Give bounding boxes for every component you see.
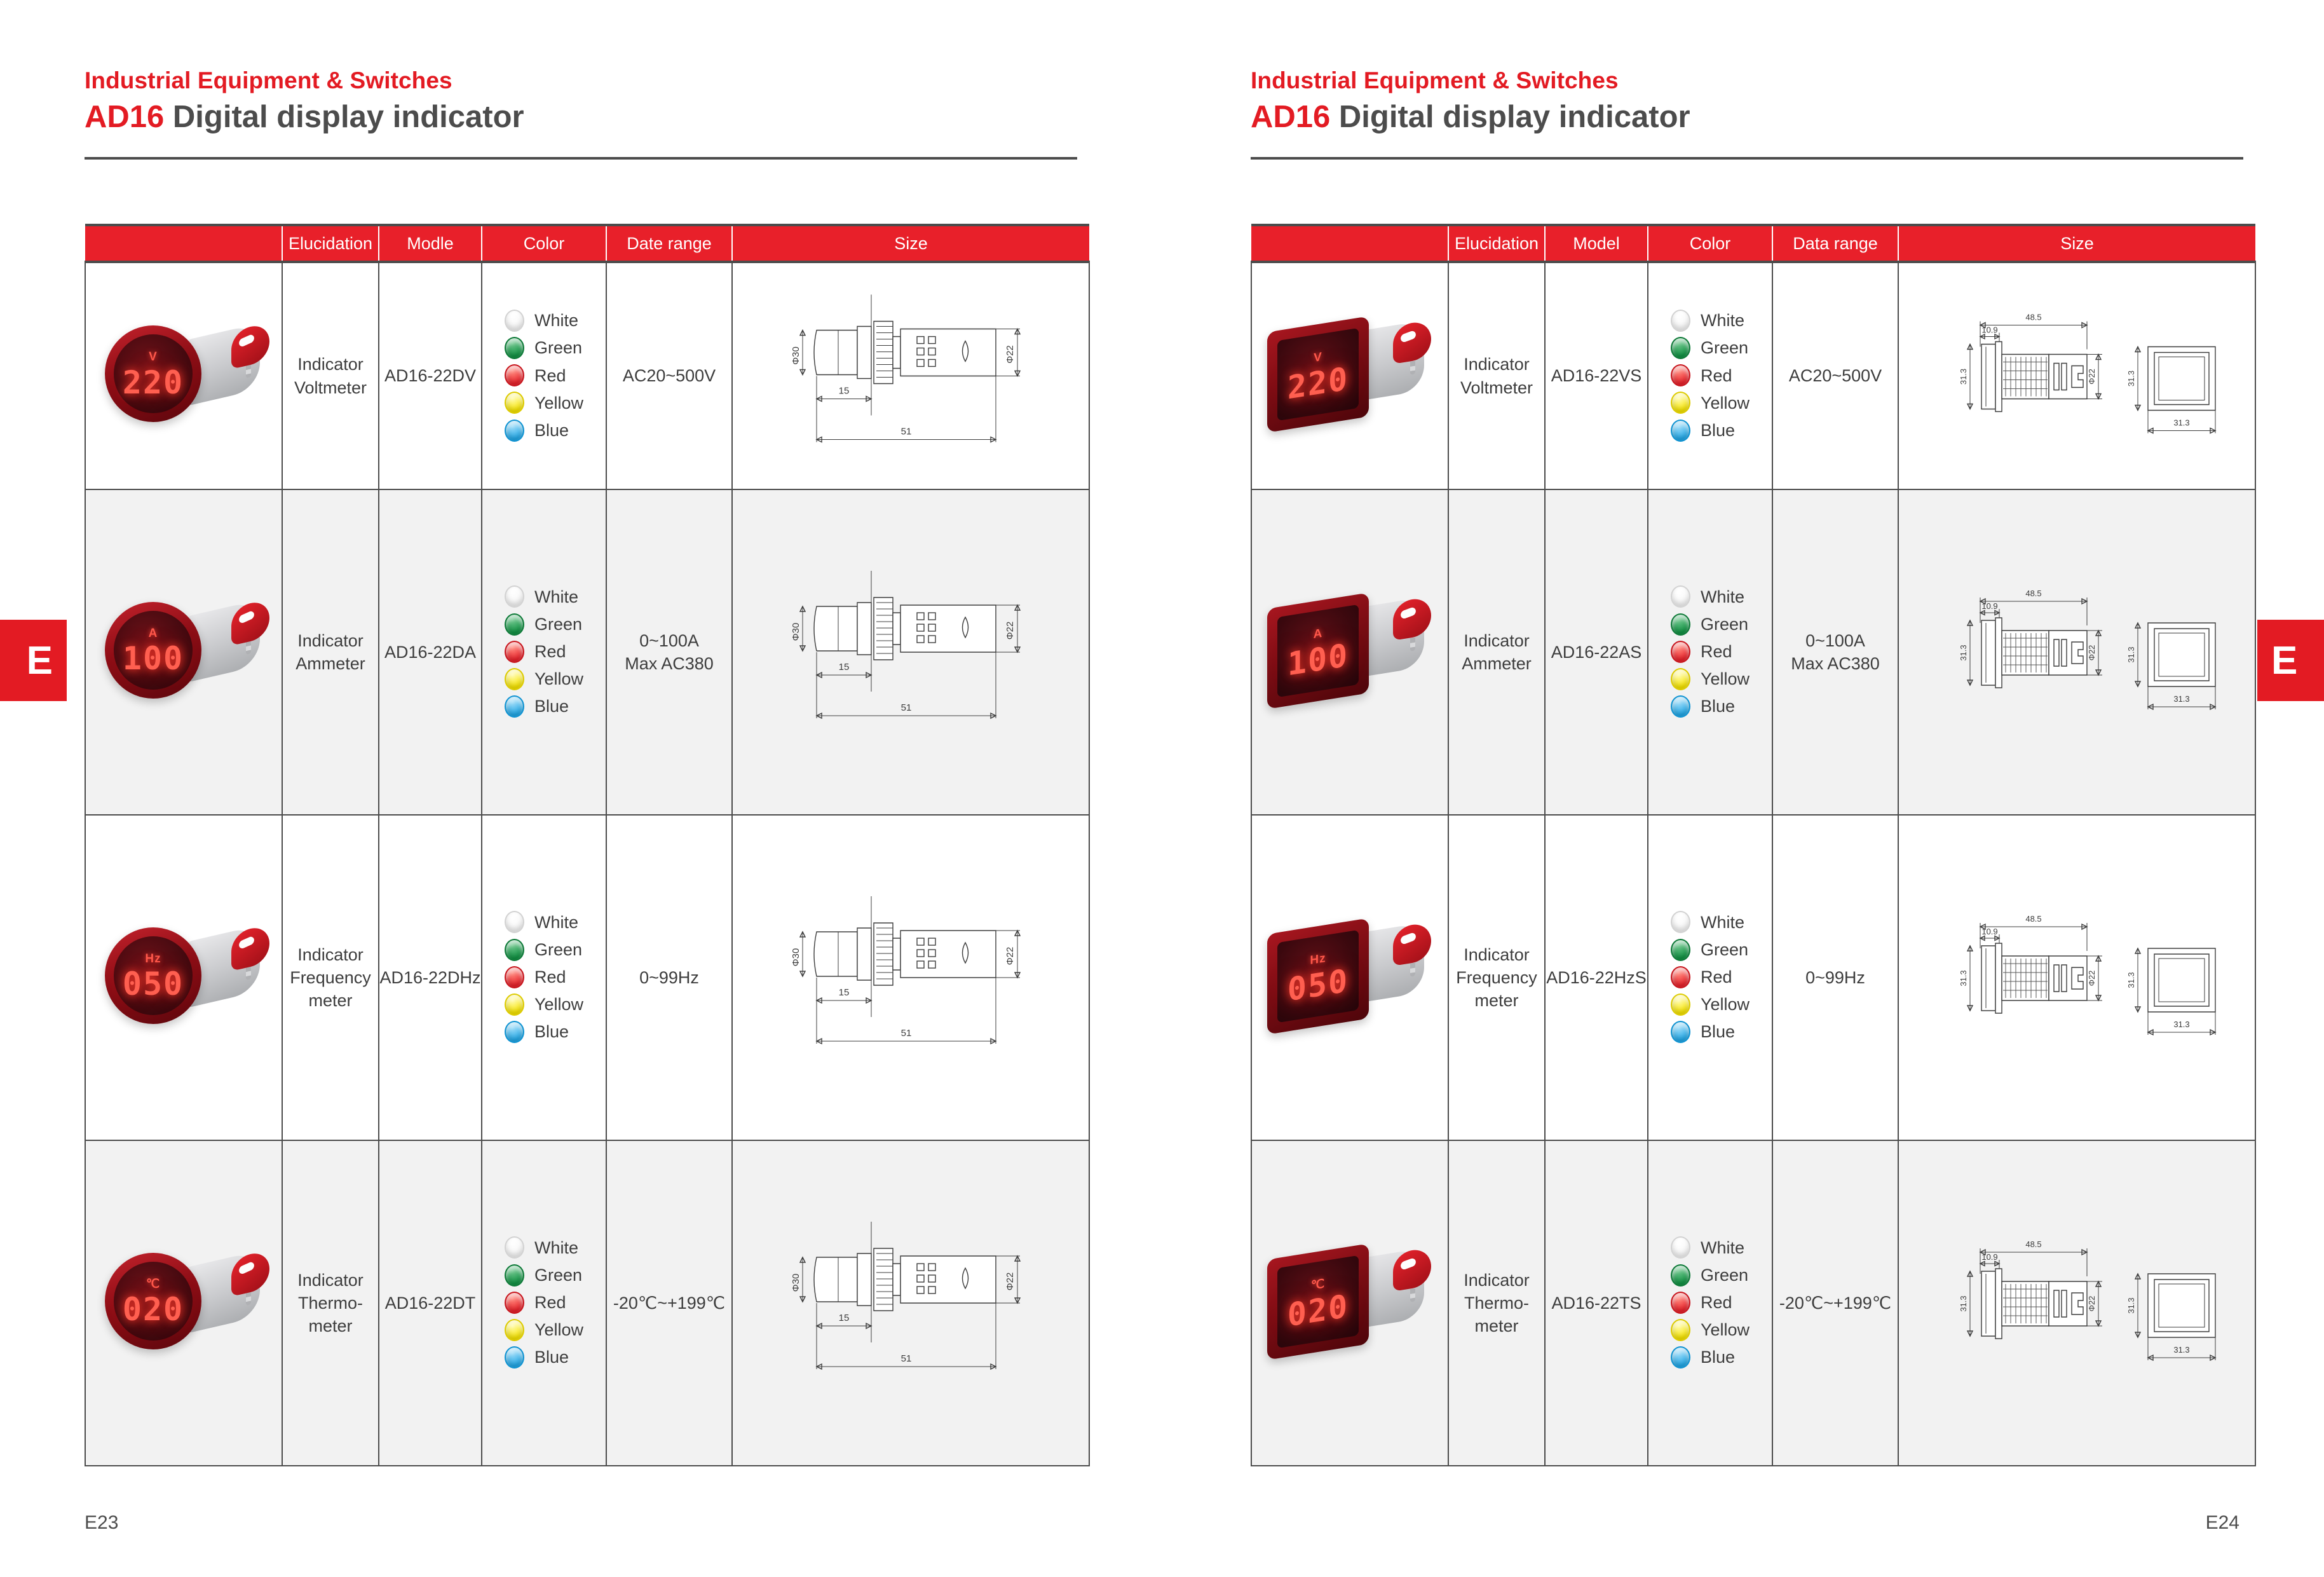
dim-side-height: 31.3 [1959, 645, 1968, 660]
dimension-drawing: 48.5 10.9 31.3 [1899, 1141, 2255, 1465]
catalog-page-right: E Industrial Equipment & Switches AD16 D… [1162, 0, 2324, 1577]
color-swatch-blue-icon [505, 1021, 524, 1043]
dim-body-diameter: Φ22 [2087, 645, 2096, 661]
color-option: White [1671, 585, 1750, 608]
page-title: AD16 Digital display indicator [1251, 101, 2267, 133]
color-label: Yellow [534, 993, 583, 1016]
cell-size-drawing: 48.5 10.9 31.3 [1898, 1140, 2255, 1466]
color-label: Red [1701, 1291, 1732, 1314]
dim-front-diameter: Φ30 [791, 346, 801, 365]
dimension-drawing: Φ30 15 51 Φ22 [733, 1141, 1089, 1465]
cell-model: AD16-22TS [1545, 1140, 1648, 1466]
cell-color: White Green Red Yellow Blue [482, 1140, 606, 1466]
dim-front-depth: 10.9 [1981, 1252, 1997, 1262]
col-header-model: Model [1545, 225, 1648, 262]
color-option: Yellow [505, 1318, 583, 1341]
cell-data-range: 0~100AMax AC380 [606, 489, 732, 815]
dim-total-length: 48.5 [2025, 914, 2041, 924]
dim-front-depth: 10.9 [1981, 325, 1997, 335]
color-label: Red [534, 966, 566, 988]
page-header-right: Industrial Equipment & Switches AD16 Dig… [1251, 69, 2267, 133]
color-option-list: White Green Red Yellow Blue [1671, 906, 1750, 1048]
dim-total-length: 51 [901, 1028, 912, 1039]
color-swatch-white-icon [1671, 1236, 1690, 1259]
color-label: White [534, 585, 578, 608]
color-label: Blue [1701, 419, 1735, 442]
dim-front-depth: 15 [839, 662, 850, 672]
color-option: Yellow [505, 993, 583, 1016]
color-option: Green [1671, 1264, 1750, 1287]
dim-front-depth: 10.9 [1981, 601, 1997, 611]
cell-product-image: Hz 050 [1251, 815, 1448, 1140]
color-option: Blue [505, 1346, 583, 1369]
cell-elucidation: IndicatorThermo-meter [1448, 1140, 1545, 1466]
dim-front-depth: 15 [839, 386, 850, 397]
color-label: White [1701, 585, 1744, 608]
color-option: White [505, 911, 583, 934]
dim-front-depth: 15 [839, 987, 850, 998]
color-swatch-white-icon [505, 585, 524, 608]
cell-model: AD16-22DT [379, 1140, 482, 1466]
color-swatch-blue-icon [505, 695, 524, 718]
led-display-face: A 100 [1277, 604, 1359, 697]
cell-model: AD16-22HzS [1545, 815, 1648, 1140]
color-option: Yellow [1671, 993, 1750, 1016]
dim-side-height: 31.3 [1959, 1295, 1968, 1311]
color-option: Green [505, 1264, 583, 1287]
indicator-bezel: Hz 050 [105, 927, 201, 1024]
led-display-face: A 100 [114, 611, 193, 690]
color-option: Green [505, 938, 583, 961]
cell-size-drawing: Φ30 15 51 Φ22 [732, 815, 1089, 1140]
color-swatch-yellow-icon [505, 993, 524, 1016]
color-swatch-green-icon [1671, 939, 1690, 961]
dim-front-height: 31.3 [2126, 1297, 2136, 1313]
color-option: Yellow [1671, 667, 1750, 690]
color-label: Red [1701, 364, 1732, 387]
color-swatch-white-icon [505, 1236, 524, 1259]
table-header-row: Elucidation Model Color Data range Size [1251, 225, 2255, 262]
color-option-list: White Green Red Yellow Blue [1671, 1232, 1750, 1374]
dim-front-height: 31.3 [2126, 371, 2136, 386]
page-title-code: AD16 [85, 100, 164, 134]
color-option: Blue [1671, 1020, 1750, 1043]
section-tab-e-left: E [0, 620, 67, 701]
color-option-list: White Green Red Yellow Blue [505, 906, 583, 1048]
cell-product-image: V 220 [1251, 262, 1448, 489]
color-option: Red [505, 966, 583, 988]
color-label: Red [534, 364, 566, 387]
cell-model: AD16-22VS [1545, 262, 1648, 489]
table-header-row: Elucidation Modle Color Date range Size [85, 225, 1089, 262]
color-label: Green [1701, 613, 1748, 636]
color-label: Blue [534, 419, 569, 442]
color-option: Red [505, 640, 583, 663]
color-label: Green [534, 336, 582, 359]
led-display-face: Hz 050 [114, 936, 193, 1015]
color-swatch-green-icon [505, 939, 524, 961]
col-header-range: Data range [1772, 225, 1898, 262]
page-number: E24 [2206, 1512, 2239, 1534]
color-option-list: White Green Red Yellow Blue [505, 581, 583, 723]
dim-front-width: 31.3 [2173, 1345, 2189, 1355]
cell-product-image: A 100 [1251, 489, 1448, 815]
col-header-elucidation: Elucidation [282, 225, 379, 262]
color-option: Blue [505, 1020, 583, 1043]
color-option: White [1671, 1236, 1750, 1259]
color-swatch-green-icon [1671, 613, 1690, 636]
col-header-size: Size [732, 225, 1089, 262]
cell-product-image: A 100 [85, 489, 282, 815]
col-header-elucidation: Elucidation [1448, 225, 1545, 262]
indicator-bezel: Hz 050 [1267, 918, 1369, 1034]
dim-body-diameter: Φ22 [2087, 971, 2096, 986]
color-swatch-yellow-icon [1671, 668, 1690, 690]
color-swatch-yellow-icon [505, 392, 524, 414]
color-option: Red [505, 364, 583, 387]
color-swatch-white-icon [1671, 310, 1690, 332]
cell-color: White Green Red Yellow Blue [1648, 489, 1772, 815]
cell-color: White Green Red Yellow Blue [1648, 1140, 1772, 1466]
cell-elucidation: IndicatorFrequencymeter [282, 815, 379, 1140]
led-display-face: ℃ 020 [1277, 1255, 1359, 1348]
color-label: White [1701, 1236, 1744, 1259]
led-display-face: Hz 050 [1277, 929, 1359, 1022]
cell-data-range: -20℃~+199℃ [606, 1140, 732, 1466]
dim-side-height: 31.3 [1959, 369, 1968, 385]
color-option-list: White Green Red Yellow Blue [1671, 304, 1750, 446]
dim-front-diameter: Φ30 [791, 948, 801, 967]
cell-model: AD16-22AS [1545, 489, 1648, 815]
product-photo: A 100 [1254, 584, 1445, 721]
color-option: Blue [1671, 695, 1750, 718]
cell-product-image: ℃ 020 [1251, 1140, 1448, 1466]
display-digits: 020 [123, 1294, 184, 1325]
color-swatch-yellow-icon [1671, 993, 1690, 1016]
cell-data-range: AC20~500V [606, 262, 732, 489]
color-swatch-blue-icon [505, 1346, 524, 1369]
dim-body-diameter: Φ22 [1005, 947, 1016, 966]
color-swatch-red-icon [505, 1292, 524, 1314]
dimension-drawing: 48.5 10.9 31.3 [1899, 263, 2255, 489]
dimension-drawing: Φ30 15 51 Φ22 [733, 490, 1089, 814]
color-swatch-green-icon [505, 613, 524, 636]
cell-color: White Green Red Yellow Blue [482, 489, 606, 815]
color-label: Blue [534, 695, 569, 718]
color-label: Yellow [1701, 667, 1750, 690]
color-swatch-white-icon [1671, 585, 1690, 608]
color-option: Green [1671, 336, 1750, 359]
dim-body-diameter: Φ22 [2087, 1296, 2096, 1312]
dimension-drawing: 48.5 10.9 31.3 [1899, 490, 2255, 814]
header-rule [85, 157, 1077, 160]
color-label: Green [1701, 336, 1748, 359]
col-header-image [85, 225, 282, 262]
cell-model: AD16-22DHz [379, 815, 482, 1140]
display-digits: 100 [123, 643, 184, 674]
color-option: White [505, 1236, 583, 1259]
color-swatch-red-icon [1671, 641, 1690, 663]
product-photo: Hz 050 [1254, 910, 1445, 1046]
color-option: Blue [505, 695, 583, 718]
col-header-range: Date range [606, 225, 732, 262]
color-option: White [1671, 911, 1750, 934]
color-label: Yellow [534, 667, 583, 690]
dim-front-depth: 15 [839, 1313, 850, 1323]
dim-body-diameter: Φ22 [1005, 1273, 1016, 1291]
cell-color: White Green Red Yellow Blue [482, 262, 606, 489]
col-header-model: Modle [379, 225, 482, 262]
table-row: V 220 IndicatorVoltmeter AD16-22VS White… [1251, 262, 2255, 489]
cell-data-range: 0~99Hz [1772, 815, 1898, 1140]
color-label: Yellow [1701, 392, 1750, 414]
product-table-left: Elucidation Modle Color Date range Size … [85, 224, 1090, 1466]
table-row: ℃ 020 IndicatorThermo-meter AD16-22TS Wh… [1251, 1140, 2255, 1466]
color-label: Blue [1701, 1346, 1735, 1369]
color-option-list: White Green Red Yellow Blue [505, 304, 583, 446]
dim-total-length: 51 [901, 702, 912, 713]
led-display-face: V 220 [114, 334, 193, 413]
product-photo: A 100 [88, 584, 279, 721]
catalog-page-left: E Industrial Equipment & Switches AD16 D… [0, 0, 1162, 1577]
color-label: Blue [534, 1020, 569, 1043]
product-photo: V 220 [1254, 308, 1445, 444]
color-swatch-blue-icon [505, 420, 524, 442]
dim-total-length: 48.5 [2025, 589, 2041, 598]
color-swatch-red-icon [1671, 1292, 1690, 1314]
page-header-left: Industrial Equipment & Switches AD16 Dig… [85, 69, 1101, 133]
cell-model: AD16-22DA [379, 489, 482, 815]
color-option: Yellow [505, 392, 583, 414]
display-digits: 050 [1288, 964, 1349, 1006]
product-photo: V 220 [88, 308, 279, 444]
color-label: White [534, 309, 578, 332]
color-option: Green [505, 613, 583, 636]
display-digits: 020 [1288, 1290, 1349, 1331]
color-option: Yellow [1671, 392, 1750, 414]
color-swatch-green-icon [505, 1264, 524, 1287]
color-option: Red [1671, 1291, 1750, 1314]
display-unit-label: Hz [145, 951, 161, 967]
table-row: Hz 050 IndicatorFrequencymeter AD16-22Hz… [1251, 815, 2255, 1140]
dim-total-length: 51 [901, 427, 912, 437]
color-swatch-green-icon [1671, 337, 1690, 359]
color-option: Green [1671, 938, 1750, 961]
dim-side-height: 31.3 [1959, 970, 1968, 986]
color-swatch-green-icon [1671, 1264, 1690, 1287]
led-display-face: ℃ 020 [114, 1262, 193, 1341]
dim-front-diameter: Φ30 [791, 1274, 801, 1292]
col-header-color: Color [1648, 225, 1772, 262]
color-option-list: White Green Red Yellow Blue [1671, 581, 1750, 723]
product-photo: ℃ 020 [88, 1235, 279, 1372]
dim-front-diameter: Φ30 [791, 623, 801, 641]
indicator-bezel: ℃ 020 [105, 1253, 201, 1349]
page-title: AD16 Digital display indicator [85, 101, 1101, 133]
color-label: Blue [1701, 695, 1735, 718]
product-photo: Hz 050 [88, 910, 279, 1046]
display-digits: 220 [1288, 362, 1349, 404]
color-option: Green [505, 336, 583, 359]
color-label: Blue [1701, 1020, 1735, 1043]
cell-data-range: 0~99Hz [606, 815, 732, 1140]
cell-data-range: -20℃~+199℃ [1772, 1140, 1898, 1466]
color-label: Yellow [1701, 993, 1750, 1016]
cell-elucidation: IndicatorVoltmeter [282, 262, 379, 489]
display-unit-label: ℃ [146, 1276, 160, 1292]
color-option: White [1671, 309, 1750, 332]
dim-front-depth: 10.9 [1981, 927, 1997, 936]
page-number: E23 [85, 1512, 118, 1534]
color-swatch-red-icon [1671, 966, 1690, 988]
cell-data-range: 0~100AMax AC380 [1772, 489, 1898, 815]
color-label: Yellow [1701, 1318, 1750, 1341]
indicator-bezel: A 100 [105, 602, 201, 699]
display-unit-label: A [149, 625, 158, 641]
page-title-rest: Digital display indicator [164, 100, 524, 134]
color-option-list: White Green Red Yellow Blue [505, 1232, 583, 1374]
page-title-rest: Digital display indicator [1330, 100, 1690, 134]
cell-size-drawing: Φ30 15 51 Φ22 [732, 1140, 1089, 1466]
color-swatch-yellow-icon [505, 668, 524, 690]
color-swatch-red-icon [505, 364, 524, 386]
led-display-face: V 220 [1277, 328, 1359, 421]
cell-size-drawing: Φ30 15 51 Φ22 [732, 262, 1089, 489]
dim-body-diameter: Φ22 [1005, 345, 1016, 364]
color-option: Yellow [505, 667, 583, 690]
page-title-code: AD16 [1251, 100, 1330, 134]
color-swatch-yellow-icon [505, 1319, 524, 1341]
table-row: A 100 IndicatorAmmeter AD16-22DA White G… [85, 489, 1089, 815]
display-unit-label: V [149, 349, 158, 365]
color-label: White [534, 1236, 578, 1259]
color-swatch-white-icon [1671, 911, 1690, 933]
table-row: ℃ 020 IndicatorThermo-meter AD16-22DT Wh… [85, 1140, 1089, 1466]
color-option: Red [1671, 640, 1750, 663]
cell-data-range: AC20~500V [1772, 262, 1898, 489]
cell-size-drawing: Φ30 15 51 Φ22 [732, 489, 1089, 815]
display-digits: 220 [123, 367, 184, 399]
dimension-drawing: 48.5 10.9 31.3 [1899, 816, 2255, 1140]
color-option: Red [505, 1291, 583, 1314]
color-swatch-white-icon [505, 310, 524, 332]
color-option: Blue [1671, 419, 1750, 442]
cell-color: White Green Red Yellow Blue [1648, 815, 1772, 1140]
color-swatch-red-icon [505, 641, 524, 663]
cell-model: AD16-22DV [379, 262, 482, 489]
color-label: Red [1701, 966, 1732, 988]
color-option: Blue [1671, 1346, 1750, 1369]
header-rule [1251, 157, 2243, 160]
color-label: Yellow [534, 1318, 583, 1341]
color-swatch-blue-icon [1671, 420, 1690, 442]
header-kicker: Industrial Equipment & Switches [1251, 69, 2267, 93]
cell-color: White Green Red Yellow Blue [482, 815, 606, 1140]
dim-body-diameter: Φ22 [1005, 622, 1016, 640]
cell-elucidation: IndicatorFrequencymeter [1448, 815, 1545, 1140]
color-swatch-white-icon [505, 911, 524, 933]
indicator-bezel: ℃ 020 [1267, 1243, 1369, 1360]
display-digits: 100 [1288, 639, 1349, 680]
cell-elucidation: IndicatorVoltmeter [1448, 262, 1545, 489]
cell-elucidation: IndicatorAmmeter [282, 489, 379, 815]
dim-front-width: 31.3 [2173, 418, 2189, 428]
color-swatch-red-icon [1671, 364, 1690, 386]
cell-product-image: ℃ 020 [85, 1140, 282, 1466]
col-header-size: Size [1898, 225, 2255, 262]
indicator-bezel: A 100 [1267, 592, 1369, 709]
cell-product-image: V 220 [85, 262, 282, 489]
col-header-image [1251, 225, 1448, 262]
cell-size-drawing: 48.5 10.9 31.3 [1898, 815, 2255, 1140]
table-row: A 100 IndicatorAmmeter AD16-22AS White G… [1251, 489, 2255, 815]
color-swatch-blue-icon [1671, 1346, 1690, 1369]
color-option: Green [1671, 613, 1750, 636]
color-swatch-yellow-icon [1671, 392, 1690, 414]
color-label: Blue [534, 1346, 569, 1369]
color-option: Red [1671, 364, 1750, 387]
color-label: White [1701, 309, 1744, 332]
display-digits: 050 [123, 968, 184, 1000]
dim-front-width: 31.3 [2173, 694, 2189, 704]
color-option: Red [1671, 966, 1750, 988]
dim-body-diameter: Φ22 [2087, 369, 2096, 385]
color-label: Green [534, 613, 582, 636]
section-tab-e-right: E [2257, 620, 2324, 701]
dim-total-length: 51 [901, 1353, 912, 1364]
color-option: White [505, 309, 583, 332]
color-label: Red [534, 640, 566, 663]
catalog-spread: E Industrial Equipment & Switches AD16 D… [0, 0, 2324, 1577]
cell-elucidation: IndicatorAmmeter [1448, 489, 1545, 815]
table-row: Hz 050 IndicatorFrequencymeter AD16-22DH… [85, 815, 1089, 1140]
color-swatch-blue-icon [1671, 695, 1690, 718]
dim-total-length: 48.5 [2025, 1239, 2041, 1249]
color-label: White [1701, 911, 1744, 934]
cell-size-drawing: 48.5 10.9 31.3 [1898, 489, 2255, 815]
color-option: Yellow [1671, 1318, 1750, 1341]
color-label: White [534, 911, 578, 934]
dimension-drawing: Φ30 15 51 Φ22 [733, 263, 1089, 489]
product-photo: ℃ 020 [1254, 1235, 1445, 1372]
dim-front-width: 31.3 [2173, 1020, 2189, 1029]
color-label: Red [534, 1291, 566, 1314]
color-label: Green [534, 1264, 582, 1287]
color-swatch-blue-icon [1671, 1021, 1690, 1043]
color-label: Green [1701, 938, 1748, 961]
table-row: V 220 IndicatorVoltmeter AD16-22DV White… [85, 262, 1089, 489]
cell-product-image: Hz 050 [85, 815, 282, 1140]
header-kicker: Industrial Equipment & Switches [85, 69, 1101, 93]
color-swatch-red-icon [505, 966, 524, 988]
cell-elucidation: IndicatorThermo-meter [282, 1140, 379, 1466]
dim-front-height: 31.3 [2126, 972, 2136, 988]
color-option: White [505, 585, 583, 608]
color-label: Yellow [534, 392, 583, 414]
color-swatch-green-icon [505, 337, 524, 359]
color-label: Green [534, 938, 582, 961]
color-label: Green [1701, 1264, 1748, 1287]
cell-size-drawing: 48.5 10.9 31.3 [1898, 262, 2255, 489]
indicator-bezel: V 220 [1267, 316, 1369, 432]
dim-total-length: 48.5 [2025, 313, 2041, 322]
color-label: Red [1701, 640, 1732, 663]
dimension-drawing: Φ30 15 51 Φ22 [733, 816, 1089, 1140]
dim-front-height: 31.3 [2126, 646, 2136, 662]
product-table-right: Elucidation Model Color Data range Size … [1251, 224, 2256, 1466]
col-header-color: Color [482, 225, 606, 262]
color-swatch-yellow-icon [1671, 1319, 1690, 1341]
